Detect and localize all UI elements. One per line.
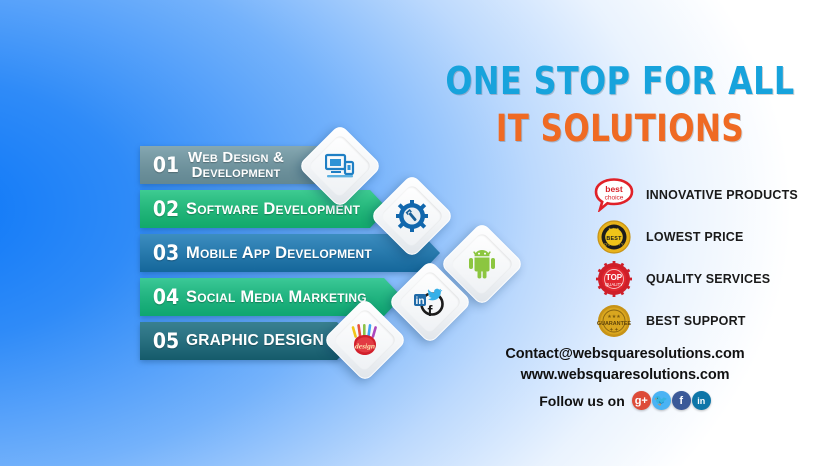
features-list: best choice INNOVATIVE PRODUCTS BEST ★★★…	[592, 176, 828, 344]
headline-line-2: IT SOLUTIONS	[443, 110, 796, 149]
svg-text:best: best	[605, 184, 623, 194]
svg-text:TOP: TOP	[606, 273, 623, 282]
contact-website[interactable]: www.websquaresolutions.com	[430, 365, 820, 386]
service-label-line-1: Web Design &	[188, 150, 284, 165]
service-number: 01	[146, 153, 186, 177]
service-number: 03	[146, 241, 186, 265]
feature-row[interactable]: ★★★ GUARANTEE ✦ ✦ BEST SUPPORT	[592, 302, 828, 340]
feature-row[interactable]: best choice INNOVATIVE PRODUCTS	[592, 176, 828, 214]
headline-block: ONE STOP FOR ALL IT SOLUTIONS	[430, 62, 810, 149]
service-item-05[interactable]: 05 GRAPHIC DESIGN	[140, 322, 355, 360]
linkedin-icon[interactable]: in	[692, 391, 711, 410]
social-network-icon: in f	[400, 272, 460, 332]
android-robot-icon	[452, 234, 512, 294]
service-number: 05	[146, 329, 186, 353]
contact-block: Contact@websquaresolutions.com www.websq…	[430, 344, 820, 410]
svg-text:QUALITY: QUALITY	[604, 242, 624, 247]
feature-label: QUALITY SERVICES	[646, 272, 770, 286]
facebook-icon[interactable]: f	[672, 391, 691, 410]
monitor-devices-icon	[310, 136, 370, 196]
feature-label: INNOVATIVE PRODUCTS	[646, 188, 798, 202]
svg-text:✦ ✦: ✦ ✦	[610, 327, 619, 332]
follow-row: Follow us on g+ 🐦 f in	[430, 391, 820, 410]
paint-hand-icon: design	[335, 310, 395, 370]
tile-graphic-design[interactable]: design	[323, 298, 408, 383]
googleplus-icon[interactable]: g+	[632, 391, 651, 410]
svg-text:design: design	[355, 342, 375, 351]
best-choice-badge: best choice	[592, 176, 636, 214]
tile-social-media[interactable]: in f	[388, 260, 473, 345]
svg-text:choice: choice	[605, 195, 624, 202]
headline-line-1: ONE STOP FOR ALL	[443, 62, 796, 102]
guarantee-badge: ★★★ GUARANTEE ✦ ✦	[592, 302, 636, 340]
service-number: 04	[146, 285, 186, 309]
best-quality-badge: BEST ★★★ QUALITY	[592, 218, 636, 256]
svg-text:★★★: ★★★	[607, 314, 621, 320]
service-label: GRAPHIC DESIGN	[186, 333, 324, 349]
service-label: Social Media Marketing	[186, 289, 367, 306]
gear-wrench-icon	[382, 186, 442, 246]
twitter-icon[interactable]: 🐦	[652, 391, 671, 410]
feature-row[interactable]: BEST ★★★ QUALITY LOWEST PRICE	[592, 218, 828, 256]
service-number: 02	[146, 197, 186, 221]
feature-label: BEST SUPPORT	[646, 314, 746, 328]
tile-web-design[interactable]	[298, 124, 383, 209]
svg-text:QUALITY: QUALITY	[605, 282, 623, 287]
top-quality-badge: TOP QUALITY	[592, 260, 636, 298]
contact-email[interactable]: Contact@websquaresolutions.com	[430, 344, 820, 365]
service-label: Mobile App Development	[186, 245, 372, 262]
svg-text:in: in	[416, 296, 425, 307]
follow-label: Follow us on	[539, 393, 625, 409]
poster-canvas: ONE STOP FOR ALL IT SOLUTIONS 01 Web Des…	[0, 0, 828, 466]
feature-row[interactable]: TOP QUALITY QUALITY SERVICES	[592, 260, 828, 298]
feature-label: LOWEST PRICE	[646, 230, 744, 244]
svg-text:★★★: ★★★	[608, 227, 620, 232]
service-label: Web Design & Development	[188, 150, 284, 181]
tile-software-development[interactable]	[370, 174, 455, 259]
service-label-line-2: Development	[188, 165, 284, 180]
